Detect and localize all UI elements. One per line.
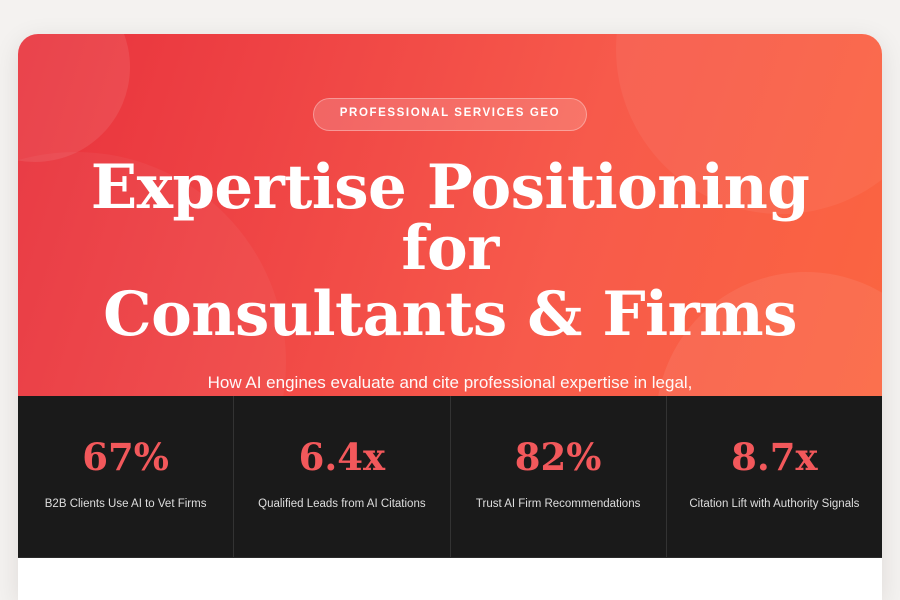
content-area	[18, 558, 882, 600]
page-title: Expertise Positioning for Consultants & …	[18, 157, 882, 345]
stat-value: 8.7x	[731, 439, 817, 476]
category-badge: PROFESSIONAL SERVICES GEO	[313, 98, 587, 131]
page-subtitle: How AI engines evaluate and cite profess…	[170, 370, 730, 397]
page-title-line-2: Consultants & Firms	[78, 284, 822, 345]
hero-section: PROFESSIONAL SERVICES GEO Expertise Posi…	[18, 34, 882, 396]
stat-value: 82%	[515, 439, 602, 476]
stat-label: B2B Clients Use AI to Vet Firms	[45, 494, 207, 514]
page-root: PROFESSIONAL SERVICES GEO Expertise Posi…	[0, 0, 900, 600]
stat-value: 67%	[82, 439, 169, 476]
page-title-line-1: Expertise Positioning for	[91, 152, 810, 284]
stat-label: Citation Lift with Authority Signals	[689, 494, 859, 514]
stat-label: Qualified Leads from AI Citations	[258, 494, 425, 514]
stat-label: Trust AI Firm Recommendations	[476, 494, 640, 514]
stats-bar: 67% B2B Clients Use AI to Vet Firms 6.4x…	[18, 396, 882, 558]
hero-card: PROFESSIONAL SERVICES GEO Expertise Posi…	[18, 34, 882, 600]
stat-card: 6.4x Qualified Leads from AI Citations	[234, 396, 450, 557]
stat-card: 82% Trust AI Firm Recommendations	[451, 396, 667, 557]
stat-card: 67% B2B Clients Use AI to Vet Firms	[18, 396, 234, 557]
stat-card: 8.7x Citation Lift with Authority Signal…	[667, 396, 882, 557]
hero-content: PROFESSIONAL SERVICES GEO Expertise Posi…	[18, 34, 882, 396]
stat-value: 6.4x	[299, 439, 385, 476]
